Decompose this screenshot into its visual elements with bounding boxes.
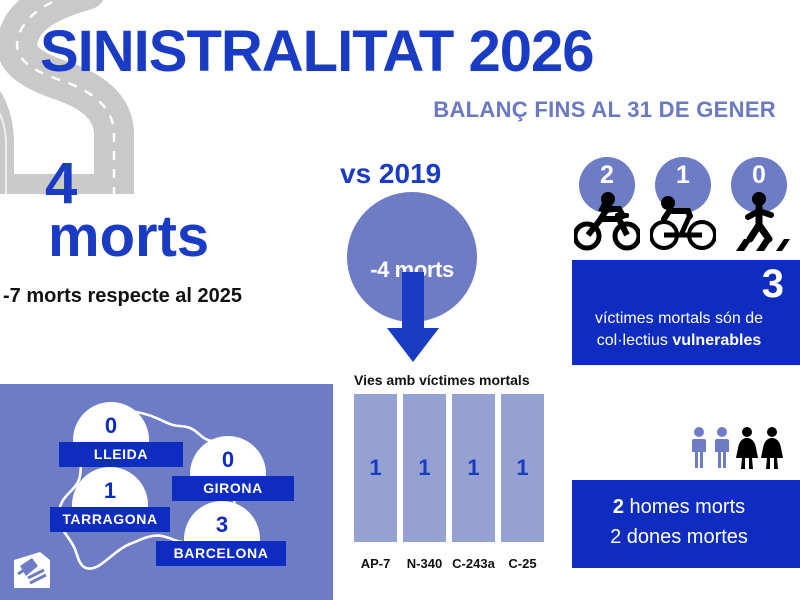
vulnerable-victims-line1: víctimes mortals són de bbox=[572, 310, 786, 328]
bar-label-c25: C-25 bbox=[501, 556, 544, 571]
bar-value-n340: 1 bbox=[418, 455, 430, 481]
bar-value-c243a: 1 bbox=[467, 455, 479, 481]
girona-label: GIRONA bbox=[172, 476, 294, 501]
lleida-dome: 0 bbox=[73, 402, 149, 442]
chart-x-labels: AP-7 N-340 C-243a C-25 bbox=[354, 556, 544, 571]
tarragona-value: 1 bbox=[104, 480, 116, 502]
tarragona-label: TARRAGONA bbox=[50, 507, 170, 532]
chart-title: Vies amb víctimes mortals bbox=[354, 372, 530, 388]
roads-bar-chart: Vies amb víctimes mortals 1 1 1 1 AP-7 N… bbox=[352, 372, 552, 586]
vulnerable-line2-normal: col·lectius bbox=[597, 332, 673, 349]
vulnerable-victims-number: 3 bbox=[762, 264, 784, 304]
gender-women-text: 2 dones mortes bbox=[610, 526, 748, 548]
man-figure-2 bbox=[715, 427, 729, 468]
vulnerable-victims-panel: 3 víctimes mortals són de col·lectius vu… bbox=[572, 260, 800, 365]
gender-men-text: homes morts bbox=[624, 496, 745, 518]
barcelona-dome: 3 bbox=[184, 501, 260, 541]
woman-figure-1 bbox=[736, 427, 758, 469]
bar-value-ap7: 1 bbox=[369, 455, 381, 481]
bar-n340: 1 bbox=[403, 394, 446, 542]
province-barcelona: 3 BARCELONA bbox=[156, 501, 286, 566]
gender-figures-group bbox=[690, 426, 786, 470]
lleida-label: LLEIDA bbox=[59, 442, 183, 467]
vulnerable-modes-group: 2 1 bbox=[574, 157, 792, 253]
woman-figure-2 bbox=[761, 427, 783, 469]
motorcycle-icon bbox=[574, 189, 640, 251]
bar-label-c243a: C-243a bbox=[452, 556, 495, 571]
province-girona: 0 GIRONA bbox=[172, 436, 294, 501]
province-tarragona: 1 TARRAGONA bbox=[50, 467, 170, 532]
transit-logo-icon bbox=[10, 548, 54, 592]
bar-label-n340: N-340 bbox=[403, 556, 446, 571]
mode-bicycle: 1 bbox=[650, 157, 716, 253]
mode-pedestrian: 0 bbox=[726, 157, 792, 253]
chart-bars: 1 1 1 1 bbox=[354, 394, 544, 542]
bar-c25: 1 bbox=[501, 394, 544, 542]
mode-motorcycle: 2 bbox=[574, 157, 640, 253]
gender-breakdown-panel: 2 homes morts 2 dones mortes bbox=[572, 480, 800, 568]
comparison-previous-year: -7 morts respecte al 2025 bbox=[3, 285, 242, 308]
girona-dome: 0 bbox=[190, 436, 266, 476]
page-subtitle: BALANÇ FINS AL 31 DE GENER bbox=[390, 97, 776, 123]
infographic-canvas: SINISTRALITAT 2026 BALANÇ FINS AL 31 DE … bbox=[0, 0, 800, 600]
vulnerable-victims-line2: col·lectius vulnerables bbox=[572, 332, 786, 350]
barcelona-label: BARCELONA bbox=[156, 541, 286, 566]
bar-c243a: 1 bbox=[452, 394, 495, 542]
province-lleida: 0 LLEIDA bbox=[73, 402, 183, 467]
vulnerable-line2-bold: vulnerables bbox=[672, 332, 761, 349]
arrow-down-icon bbox=[385, 272, 441, 364]
man-figure-1 bbox=[692, 427, 706, 468]
bar-ap7: 1 bbox=[354, 394, 397, 542]
catalonia-map-panel: 0 LLEIDA 0 GIRONA 1 TARRAGONA 3 BARCELON… bbox=[0, 384, 333, 600]
total-deaths-word: morts bbox=[48, 208, 209, 266]
barcelona-value: 3 bbox=[216, 514, 228, 536]
lleida-value: 0 bbox=[105, 415, 117, 437]
girona-value: 0 bbox=[222, 449, 234, 471]
tarragona-dome: 1 bbox=[72, 467, 148, 507]
gender-women-line: 2 dones mortes bbox=[572, 526, 786, 549]
bar-value-c25: 1 bbox=[516, 455, 528, 481]
page-title: SINISTRALITAT 2026 bbox=[40, 18, 594, 85]
pedestrian-icon bbox=[726, 189, 792, 251]
bicycle-icon bbox=[650, 189, 716, 251]
gender-men-line: 2 homes morts bbox=[572, 496, 786, 519]
bar-label-ap7: AP-7 bbox=[354, 556, 397, 571]
vs-2019-label: vs 2019 bbox=[340, 158, 441, 190]
pedestrian-count: 0 bbox=[752, 163, 766, 188]
bicycle-count: 1 bbox=[676, 163, 690, 188]
motorcycle-count: 2 bbox=[600, 163, 614, 188]
gender-men-count: 2 bbox=[613, 496, 624, 518]
